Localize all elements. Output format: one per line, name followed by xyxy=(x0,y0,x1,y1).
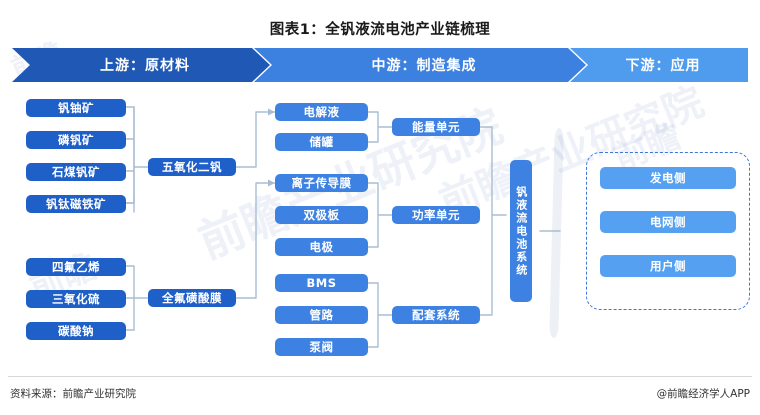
page-title: 图表1：全钒液流电池产业链梳理 xyxy=(0,18,760,39)
node-label: 钒液流电池系统 xyxy=(515,186,527,277)
value-chain-banner: 上游：原材料 中游：制造集成 下游：应用 xyxy=(12,48,748,82)
node-vanadium-pentoxide[interactable]: 五氧化二钒 xyxy=(148,158,236,176)
node-power-unit[interactable]: 功率单元 xyxy=(392,206,480,224)
node-label: 储罐 xyxy=(310,134,334,150)
chart-canvas: 图表1：全钒液流电池产业链梳理 前瞻 前瞻产业研究院 前瞻产业研究院 前瞻 前瞻… xyxy=(0,0,760,415)
node-electrode[interactable]: 电极 xyxy=(275,238,368,256)
node-storage-tank[interactable]: 储罐 xyxy=(275,133,368,151)
node-piping[interactable]: 管路 xyxy=(275,306,368,324)
node-label: 泵阀 xyxy=(310,339,334,355)
node-label: 磷钒矿 xyxy=(58,132,94,148)
node-label: 电网侧 xyxy=(650,214,686,230)
node-phosphovanadium-ore[interactable]: 磷钒矿 xyxy=(26,131,126,149)
node-label: 发电侧 xyxy=(650,170,686,186)
node-label: 管路 xyxy=(310,307,334,323)
node-label: 功率单元 xyxy=(412,207,460,223)
node-label: 双极板 xyxy=(304,207,340,223)
node-vanadium-uranium-ore[interactable]: 钒铀矿 xyxy=(26,99,126,117)
node-label: 能量单元 xyxy=(412,119,460,135)
node-stone-coal-vanadium-ore[interactable]: 石煤钒矿 xyxy=(26,163,126,181)
node-generation-side[interactable]: 发电侧 xyxy=(600,167,736,189)
node-label: 钒钛磁铁矿 xyxy=(46,196,106,212)
node-ion-conducting-membrane[interactable]: 离子传导膜 xyxy=(275,174,368,192)
node-label: 用户侧 xyxy=(650,258,686,274)
node-label: 配套系统 xyxy=(412,307,460,323)
node-energy-unit[interactable]: 能量单元 xyxy=(392,118,480,136)
node-bms[interactable]: BMS xyxy=(275,274,368,292)
node-supporting-system[interactable]: 配套系统 xyxy=(392,306,480,324)
watermark-stripe xyxy=(549,128,563,338)
credit-note: @前瞻经济学人APP xyxy=(657,386,750,401)
node-label: 离子传导膜 xyxy=(292,175,352,191)
node-label: BMS xyxy=(307,276,337,290)
node-label: 碳酸钠 xyxy=(58,323,94,339)
node-user-side[interactable]: 用户侧 xyxy=(600,255,736,277)
node-label: 钒铀矿 xyxy=(58,100,94,116)
banner-label-upstream: 上游：原材料 xyxy=(100,55,190,75)
node-label: 全氟磺酸膜 xyxy=(162,290,222,306)
node-vanadium-flow-battery-system[interactable]: 钒液流电池系统 xyxy=(510,160,532,302)
node-perfluorosulfonic-acid-membrane[interactable]: 全氟磺酸膜 xyxy=(148,289,236,307)
node-label: 电解液 xyxy=(304,104,340,120)
node-bipolar-plate[interactable]: 双极板 xyxy=(275,206,368,224)
node-tetrafluoroethylene[interactable]: 四氟乙烯 xyxy=(26,258,126,276)
banner-segment-downstream: 下游：应用 xyxy=(570,48,748,82)
banner-segment-midstream: 中游：制造集成 xyxy=(254,48,586,82)
node-label: 三氧化硫 xyxy=(52,291,100,307)
banner-segment-upstream: 上游：原材料 xyxy=(12,48,270,82)
node-label: 电极 xyxy=(310,239,334,255)
node-label: 五氧化二钒 xyxy=(162,159,222,175)
footer-divider xyxy=(8,376,752,377)
node-grid-side[interactable]: 电网侧 xyxy=(600,211,736,233)
source-note: 资料来源：前瞻产业研究院 xyxy=(10,386,136,401)
node-label: 四氟乙烯 xyxy=(52,259,100,275)
node-label: 石煤钒矿 xyxy=(52,164,100,180)
node-vanadium-titanium-magnetite[interactable]: 钒钛磁铁矿 xyxy=(26,195,126,213)
banner-label-midstream: 中游：制造集成 xyxy=(372,55,477,75)
node-sodium-carbonate[interactable]: 碳酸钠 xyxy=(26,322,126,340)
banner-label-downstream: 下游：应用 xyxy=(626,55,701,75)
node-sulfur-trioxide[interactable]: 三氧化硫 xyxy=(26,290,126,308)
node-pump-valve[interactable]: 泵阀 xyxy=(275,338,368,356)
node-electrolyte[interactable]: 电解液 xyxy=(275,103,368,121)
